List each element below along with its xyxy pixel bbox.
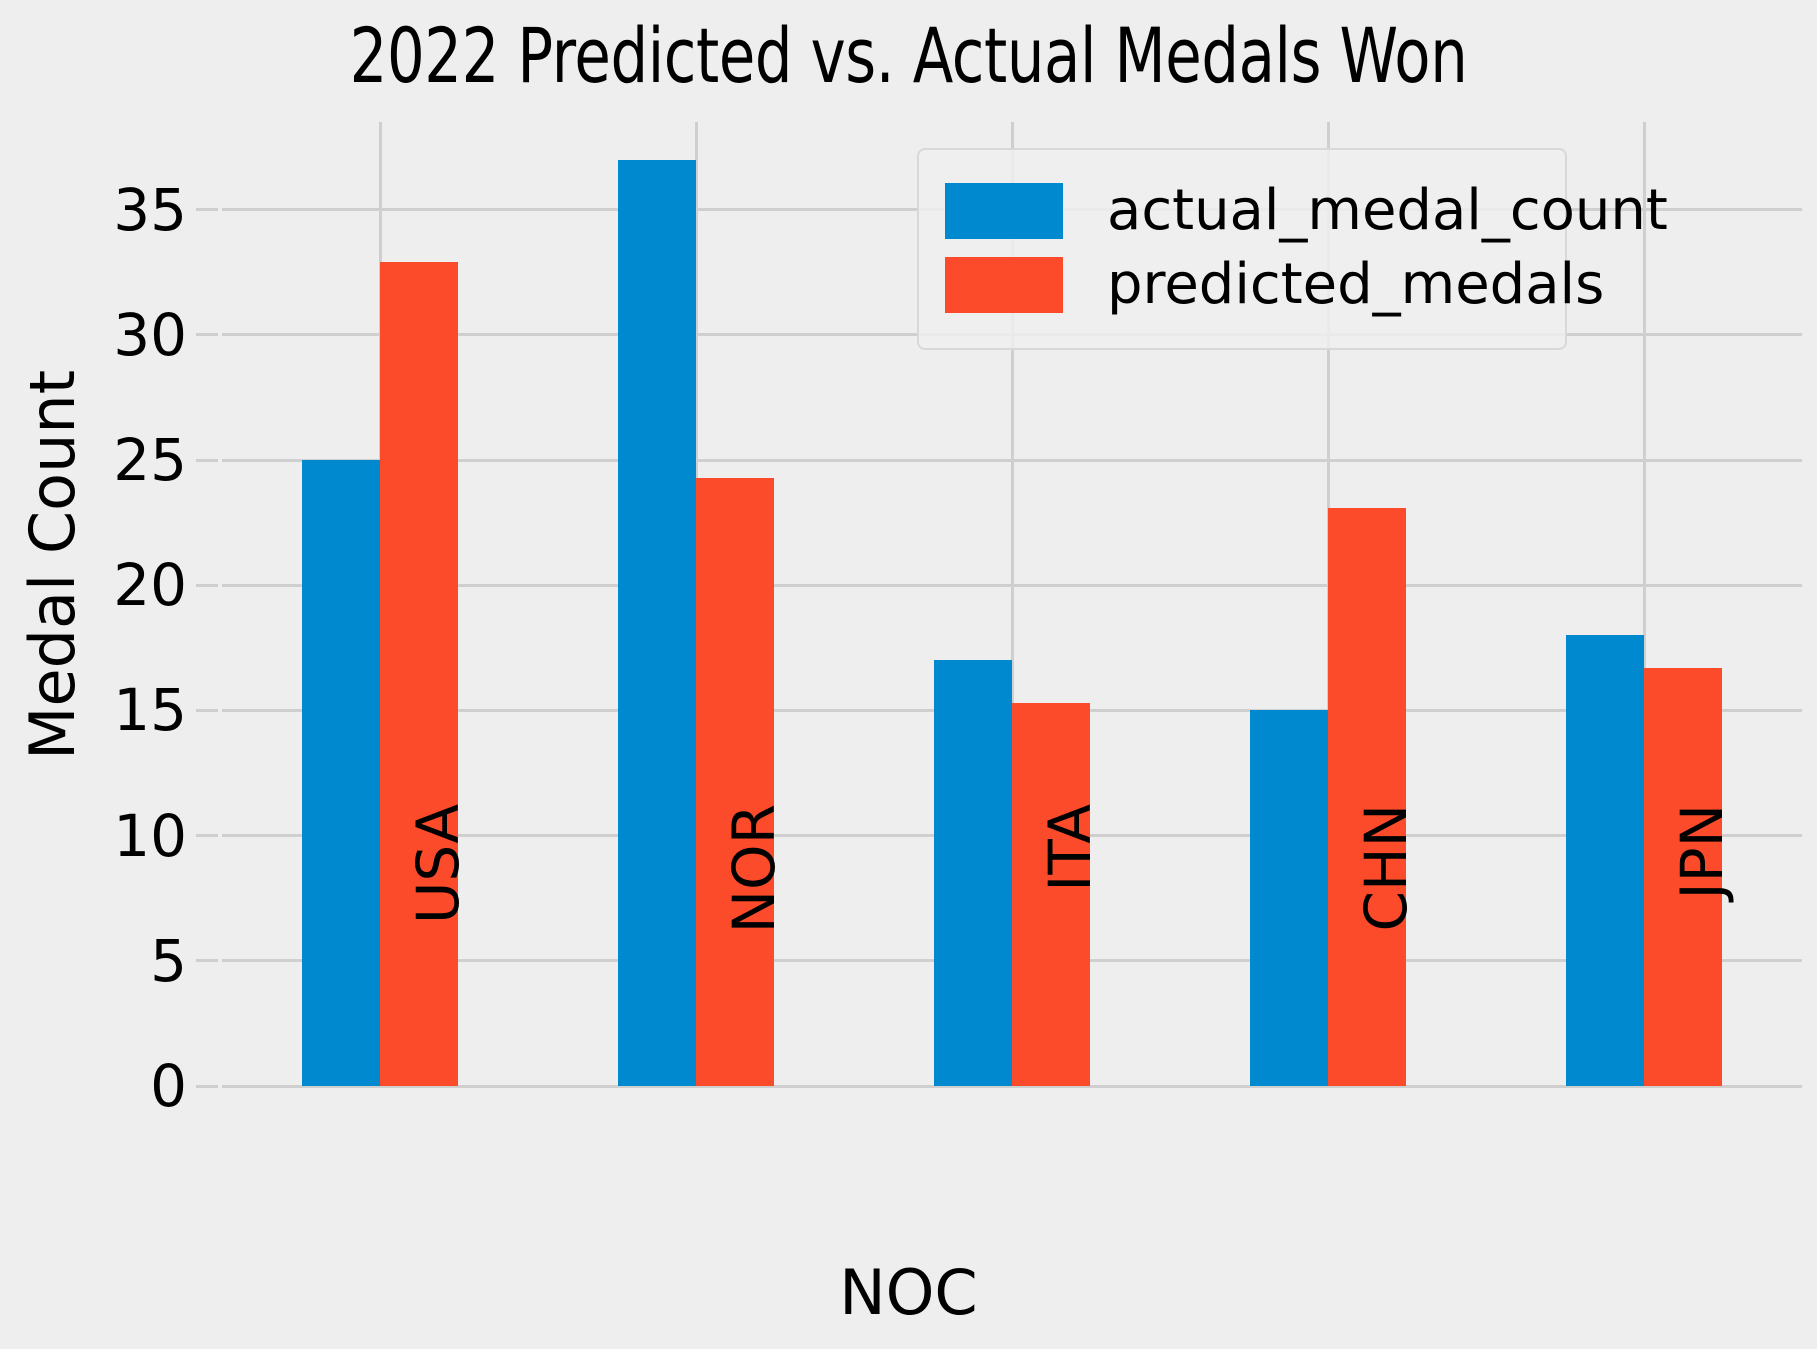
y-tick-label-35: 35 <box>7 181 187 239</box>
legend-label-actual: actual_medal_count <box>1107 183 1668 239</box>
y-tick-mark-0 <box>196 1085 218 1088</box>
y-tick-mark-10 <box>196 834 218 837</box>
x-axis-label: NOC <box>0 1262 1817 1324</box>
bar-jpn-actual <box>1566 635 1644 1086</box>
bar-chn-actual <box>1250 710 1328 1086</box>
legend-label-predicted: predicted_medals <box>1107 257 1604 313</box>
chart-title: 2022 Predicted vs. Actual Medals Won <box>200 8 1617 104</box>
x-tick-label-ita: ITA <box>1041 804 1099 1104</box>
y-tick-mark-35 <box>196 208 218 211</box>
legend-swatch-predicted-icon <box>945 257 1063 313</box>
bar-ita-actual <box>934 660 1012 1086</box>
y-tick-label-20: 20 <box>7 556 187 614</box>
y-tick-mark-25 <box>196 459 218 462</box>
y-tick-mark-30 <box>196 333 218 336</box>
chart-legend: actual_medal_count predicted_medals <box>917 148 1567 350</box>
y-tick-label-25: 25 <box>7 431 187 489</box>
bar-nor-actual <box>618 160 696 1086</box>
chart-figure: 2022 Predicted vs. Actual Medals Won Med… <box>0 0 1817 1349</box>
legend-entry-actual: actual_medal_count <box>945 174 1539 248</box>
y-tick-mark-5 <box>196 959 218 962</box>
y-tick-mark-20 <box>196 584 218 587</box>
y-tick-mark-15 <box>196 709 218 712</box>
legend-entry-predicted: predicted_medals <box>945 248 1539 322</box>
y-tick-label-15: 15 <box>7 681 187 739</box>
x-tick-label-nor: NOR <box>725 804 783 1104</box>
y-tick-label-5: 5 <box>7 932 187 990</box>
x-tick-label-usa: USA <box>409 804 467 1104</box>
bar-usa-actual <box>302 460 380 1086</box>
x-tick-label-chn: CHN <box>1357 804 1415 1104</box>
y-tick-label-0: 0 <box>7 1057 187 1115</box>
x-tick-label-jpn: JPN <box>1673 804 1731 1104</box>
y-tick-label-10: 10 <box>7 807 187 865</box>
y-tick-label-30: 30 <box>7 306 187 364</box>
legend-swatch-actual-icon <box>945 183 1063 239</box>
